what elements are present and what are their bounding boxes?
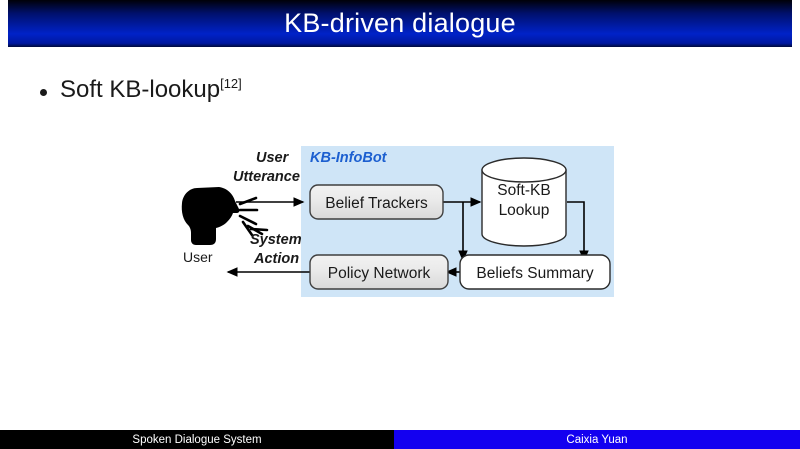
node-policy-network: Policy Network [310,255,448,289]
node-belief-trackers: Belief Trackers [310,185,443,219]
footer-author-name: Caixia Yuan [566,434,627,446]
kb-infobot-label: KB-InfoBot [310,150,388,166]
bullet-item: Soft KB-lookup[12] [40,76,242,104]
user-utterance-label-line1: User [256,150,290,166]
bullet-text: Soft KB-lookup[12] [60,76,242,104]
footer-left-band: Spoken Dialogue System [0,430,394,449]
footer-course-title: Spoken Dialogue System [132,434,261,446]
node-belief-trackers-label: Belief Trackers [325,195,428,212]
slide: KB-driven dialogue Soft KB-lookup[12] KB… [0,0,800,449]
node-policy-network-label: Policy Network [328,265,431,282]
system-action-label-line2: Action [253,251,299,267]
citation-marker: [12] [220,76,242,91]
node-beliefs-summary-label: Beliefs Summary [476,265,593,282]
bullet-label: Soft KB-lookup [60,76,220,103]
user-actor-label: User [183,249,213,265]
slide-footer: Spoken Dialogue System Caixia Yuan [0,430,800,449]
node-soft-kb-lookup: Soft-KB Lookup [482,158,566,246]
bullet-dot-icon [40,89,47,96]
slide-title-bar: KB-driven dialogue [8,0,792,47]
node-soft-kb-lookup-label-line1: Soft-KB [497,182,550,199]
footer-right-band: Caixia Yuan [394,430,800,449]
node-soft-kb-lookup-label-line2: Lookup [499,202,550,219]
node-beliefs-summary: Beliefs Summary [460,255,610,289]
kb-infobot-diagram: KB-InfoBot User User Utterance System Ac… [170,140,630,315]
system-action-label-line1: System [250,232,302,248]
user-utterance-label-line2: Utterance [233,169,300,185]
page-title: KB-driven dialogue [284,8,516,39]
